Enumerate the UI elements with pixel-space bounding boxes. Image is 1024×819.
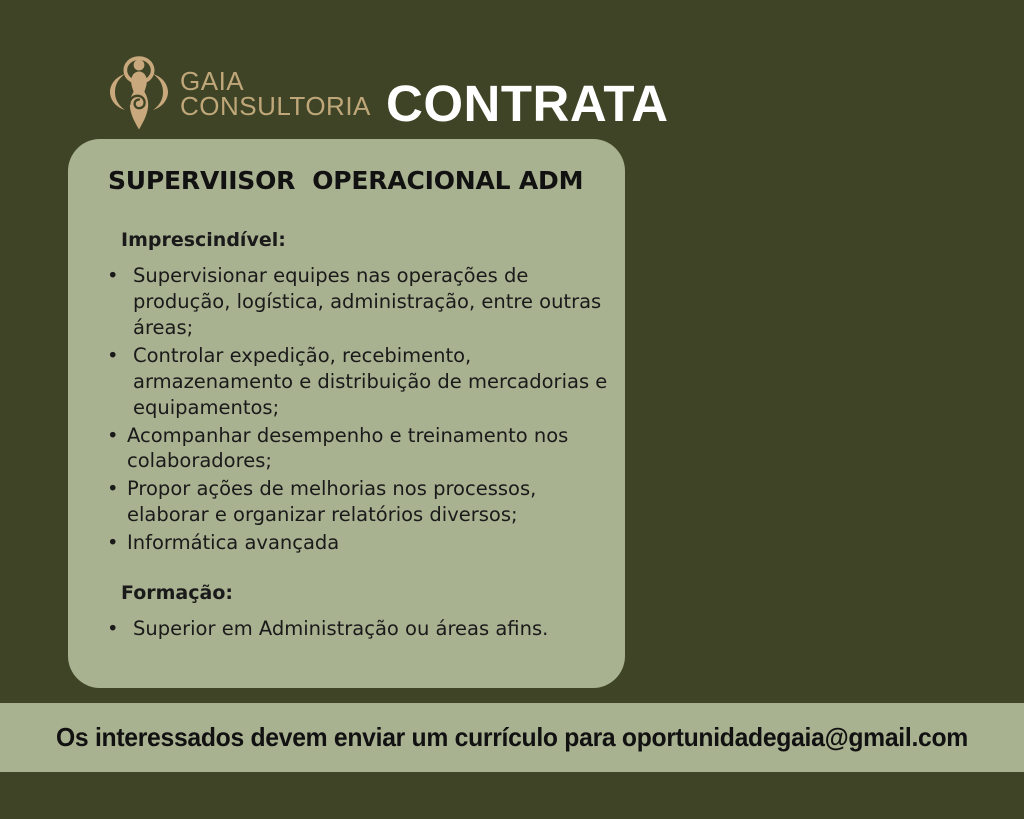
list-item: Acompanhar desempenho e treinamento nos … [103, 423, 608, 475]
brand-name-line2: CONSULTORIA [180, 94, 371, 119]
section-heading: Formação: [121, 582, 608, 604]
gaia-triple-moon-goddess-icon [108, 52, 170, 130]
requirements-list: Supervisionar equipes nas operações de p… [103, 263, 608, 556]
list-item: Informática avançada [103, 530, 608, 556]
section-imprescindivel: Imprescindível: Supervisionar equipes na… [103, 229, 608, 556]
list-item: Propor ações de melhorias nos processos,… [103, 476, 608, 528]
footer-contact-bar: Os interessados devem enviar um currícul… [0, 703, 1024, 772]
footer-contact-text: Os interessados devem enviar um currícul… [56, 722, 968, 753]
requirements-body: Imprescindível: Supervisionar equipes na… [103, 229, 608, 644]
job-details-card: SUPERVIISOR OPERACIONAL ADM Imprescindív… [68, 139, 625, 688]
job-posting-flyer: { "brand": { "logo_icon": "gaia-triple-m… [0, 0, 1024, 819]
section-heading: Imprescindível: [121, 229, 608, 251]
list-item: Superior em Administração ou áreas afins… [103, 616, 608, 642]
list-item: Controlar expedição, recebimento, armaze… [103, 343, 608, 421]
education-list: Superior em Administração ou áreas afins… [103, 616, 608, 642]
headline-contrata: CONTRATA [386, 74, 669, 133]
list-item: Supervisionar equipes nas operações de p… [103, 263, 608, 341]
brand-wordmark: GAIA CONSULTORIA [180, 63, 371, 119]
header: GAIA CONSULTORIA CONTRATA [0, 0, 1024, 139]
brand-logo: GAIA CONSULTORIA [108, 52, 371, 130]
job-title: SUPERVIISOR OPERACIONAL ADM [108, 166, 583, 195]
section-formacao: Formação: Superior em Administração ou á… [103, 582, 608, 642]
